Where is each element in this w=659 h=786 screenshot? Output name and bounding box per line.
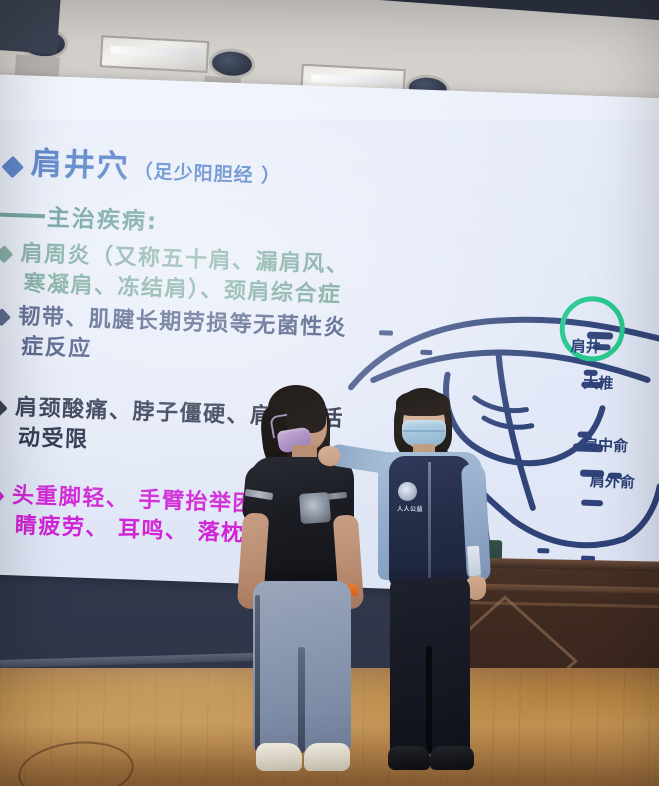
acupoint-label: 肩中俞	[583, 434, 629, 457]
trouser-leg-gap	[426, 646, 432, 754]
vest-emblem-icon	[398, 482, 417, 501]
slide-bullet-2: 韧带、肌腱长期劳损等无菌性炎 症反应	[0, 301, 348, 374]
id-badge	[467, 546, 481, 577]
vest-zipper	[428, 462, 431, 582]
green-diamond-bullet-icon	[0, 245, 13, 263]
acupoint-label: 肩井	[570, 335, 601, 357]
ceiling-panel-light	[100, 35, 210, 73]
slide-bullet-1: 肩周炎（又称五十肩、漏肩风、 寒凝肩、冻结肩）、颈肩综合症	[0, 239, 350, 312]
trouser-leg-gap	[298, 647, 305, 753]
acupoint-label: 肩外俞	[589, 470, 635, 493]
subheading-dash-icon	[0, 213, 45, 219]
navy-diamond-bullet-icon	[0, 308, 11, 326]
trouser-side-stripe	[255, 595, 260, 751]
magenta-diamond-bullet-icon	[0, 487, 5, 505]
blue-diamond-bullet-icon	[1, 156, 24, 179]
black-shoe-left	[388, 746, 430, 770]
slide-subheading: 主治疾病:	[46, 205, 158, 235]
demonstrator-right: 人人公益	[372, 388, 488, 786]
slide-title: 肩井穴	[30, 146, 130, 186]
downlight-icon	[211, 50, 253, 77]
shirt-chest-graphic	[299, 492, 331, 524]
black-shoe-right	[430, 746, 474, 770]
black-diamond-bullet-icon	[0, 399, 8, 417]
vest-emblem-text: 人人公益	[391, 504, 429, 513]
slide-title-row: 肩井穴（足少阳胆经 ）	[4, 137, 282, 192]
photo-screenshot: 肩井穴（足少阳胆经 ） 主治疾病: 肩周炎（又称五十肩、漏肩风、 寒凝肩、冻结肩…	[0, 0, 659, 786]
slide-title-meridian: （足少阳胆经 ）	[133, 160, 281, 187]
ceiling-shadow-corner	[0, 0, 63, 54]
white-sneaker-left	[256, 743, 302, 771]
slide-subheading-row: 主治疾病:	[0, 197, 159, 237]
blue-surgical-mask	[402, 420, 446, 446]
acupoint-label: 大椎	[583, 372, 614, 394]
mask-pleat	[403, 430, 445, 432]
white-sneaker-right	[304, 743, 350, 771]
hair-bangs	[396, 390, 450, 416]
